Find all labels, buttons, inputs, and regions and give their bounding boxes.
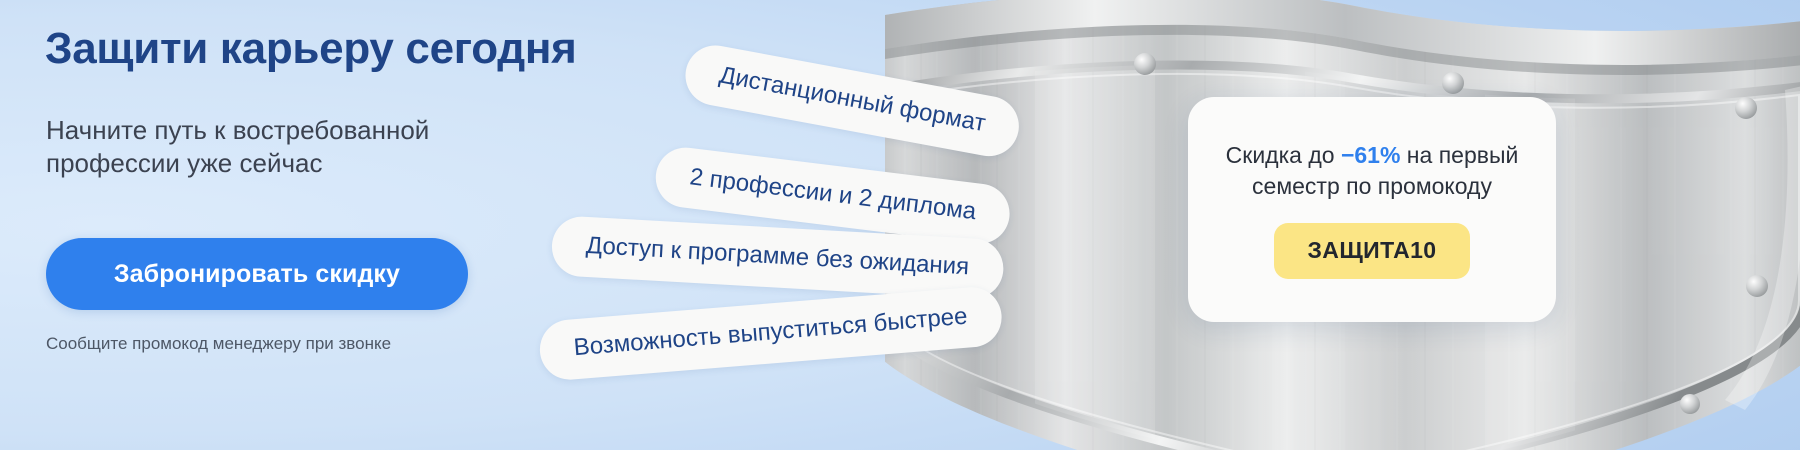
promo-footnote: Сообщите промокод менеджеру при звонке	[46, 334, 391, 354]
discount-card: Скидка до −61% на первый семестр по пром…	[1188, 97, 1556, 322]
subtitle: Начните путь к востребованной профессии …	[46, 114, 566, 181]
promo-code-badge[interactable]: ЗАЩИТА10	[1274, 223, 1471, 279]
discount-text: Скидка до −61% на первый семестр по пром…	[1214, 140, 1530, 202]
page-title: Защити карьеру сегодня	[45, 26, 685, 73]
book-discount-button[interactable]: Забронировать скидку	[46, 238, 468, 310]
discount-value: −61%	[1341, 142, 1400, 168]
promo-banner: Защити карьеру сегодня Начните путь к во…	[0, 0, 1800, 450]
discount-text-before: Скидка до	[1226, 142, 1341, 168]
